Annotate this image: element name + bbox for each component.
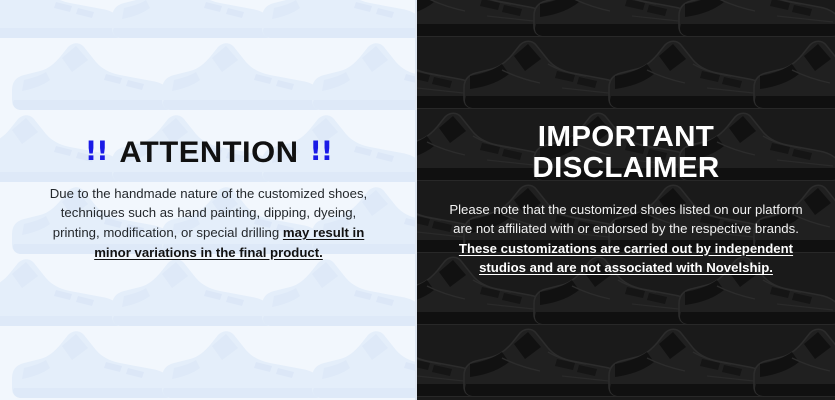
attention-body: Due to the handmade nature of the custom…: [36, 184, 381, 262]
disclaimer-banner: !! ATTENTION !! Due to the handmade natu…: [0, 0, 835, 400]
disclaimer-heading-line2: DISCLAIMER: [443, 153, 808, 184]
attention-panel: !! ATTENTION !! Due to the handmade natu…: [0, 0, 417, 400]
disclaimer-panel: IMPORTANT DISCLAIMER Please note that th…: [417, 0, 835, 400]
exclamation-left-icon: !!: [85, 138, 108, 165]
disclaimer-heading: IMPORTANT DISCLAIMER: [443, 122, 808, 183]
attention-content: !! ATTENTION !! Due to the handmade natu…: [0, 138, 417, 262]
disclaimer-content: IMPORTANT DISCLAIMER Please note that th…: [417, 122, 835, 278]
exclamation-right-icon: !!: [309, 138, 332, 165]
attention-heading-word: ATTENTION: [119, 138, 298, 168]
disclaimer-heading-line1: IMPORTANT: [538, 121, 714, 153]
disclaimer-body-plain: Please note that the customized shoes li…: [449, 202, 802, 237]
attention-heading: !! ATTENTION !!: [36, 138, 381, 168]
disclaimer-body-emphasis: These customizations are carried out by …: [459, 241, 793, 276]
disclaimer-body: Please note that the customized shoes li…: [447, 200, 805, 278]
panel-divider: [415, 0, 417, 400]
